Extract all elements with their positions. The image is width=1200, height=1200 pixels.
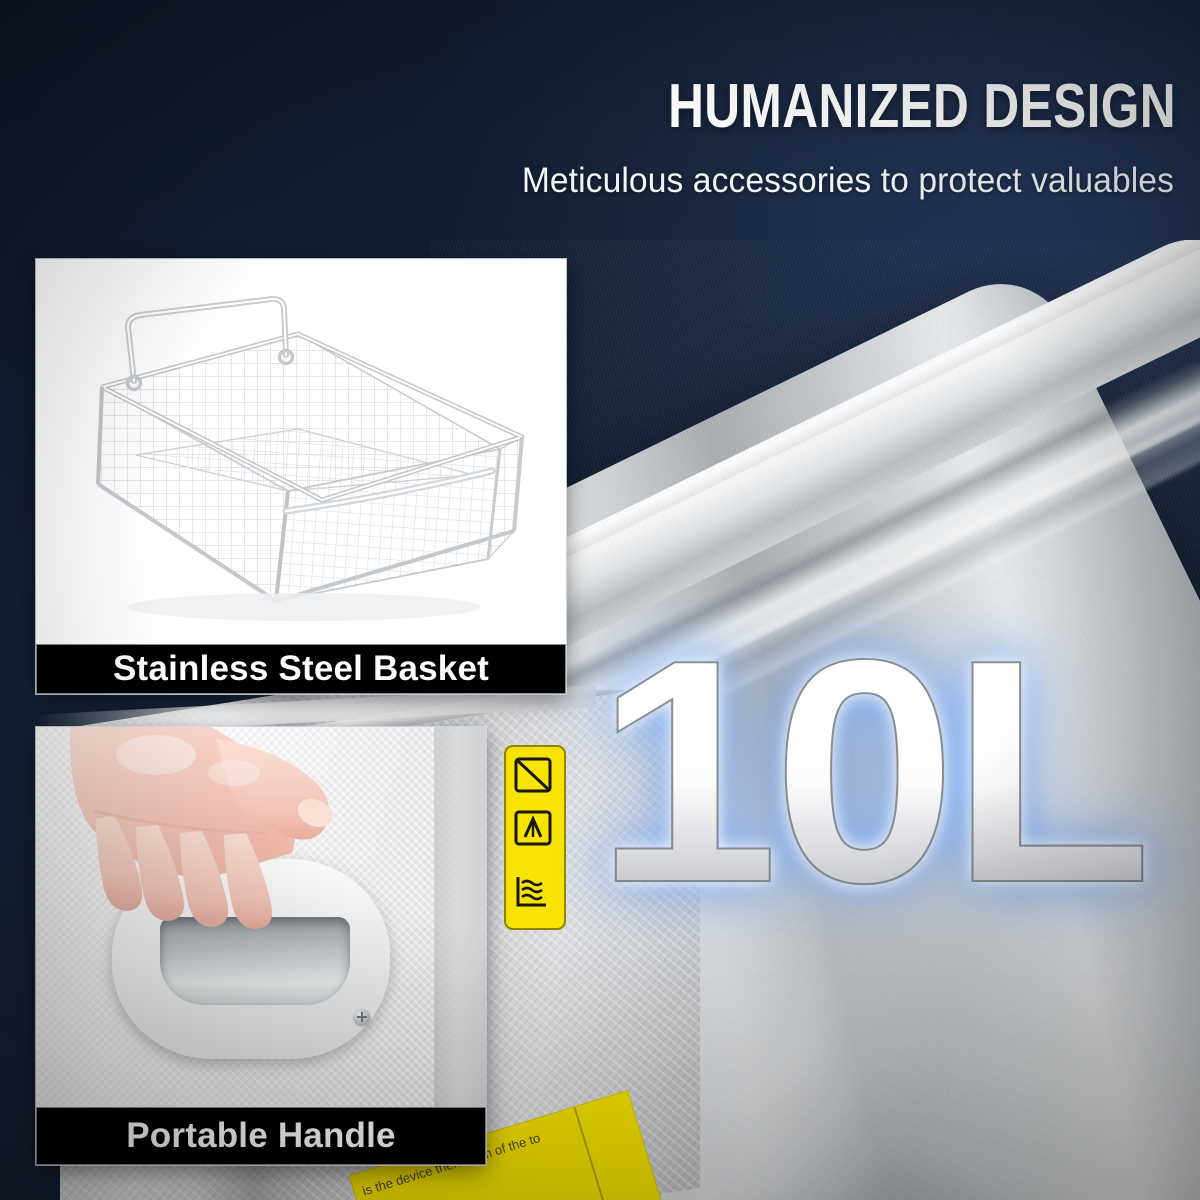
no-solvent-icon — [513, 753, 553, 797]
card-caption-basket: Stainless Steel Basket — [36, 644, 566, 694]
handle-scene — [36, 727, 486, 1107]
page-title: HUMANIZED DESIGN — [235, 76, 1176, 138]
product-feature-banner: is the device then room of the to — [0, 0, 1200, 1200]
feature-card-portable-handle: Portable Handle — [36, 727, 486, 1165]
handle-photo — [36, 727, 486, 1107]
liquid-level-icon — [513, 871, 553, 915]
hand-illustration — [66, 727, 396, 973]
basket-photo — [36, 259, 566, 644]
capacity-badge: 10L — [595, 613, 1200, 931]
screw-icon — [354, 1009, 370, 1025]
warning-sticker-pictograms — [504, 745, 566, 930]
card-caption-handle: Portable Handle — [36, 1107, 486, 1165]
page-subtitle: Meticulous accessories to protect valuab… — [47, 160, 1174, 202]
panel-right-edge — [434, 727, 486, 1107]
feature-card-stainless-steel-basket: Stainless Steel Basket — [36, 259, 566, 694]
no-hand-in-tank-icon — [513, 807, 553, 851]
wire-mesh-basket-illustration — [36, 259, 566, 644]
